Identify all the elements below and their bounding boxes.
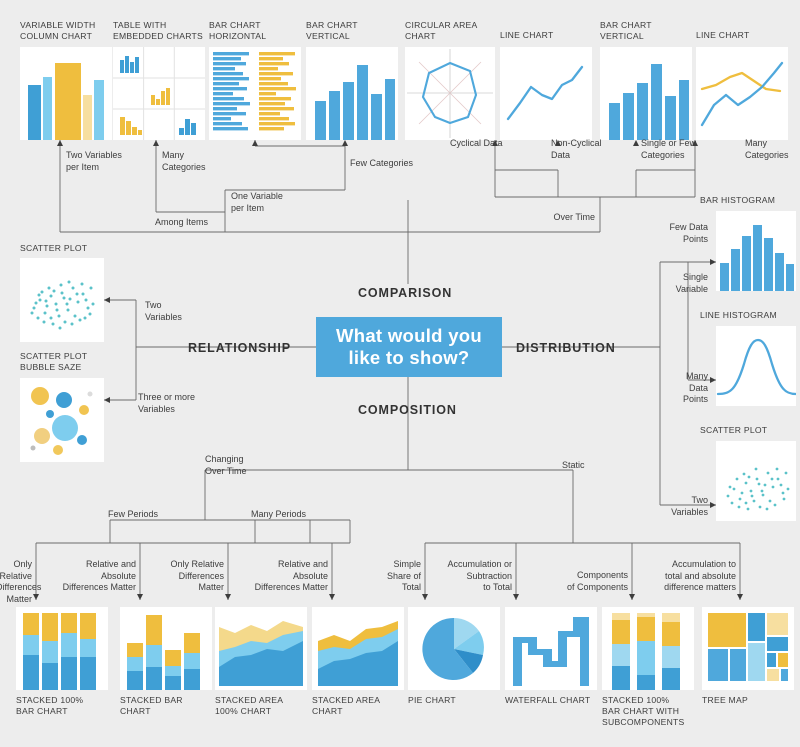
edge-simple-share: Simple Share of Total	[365, 559, 421, 594]
edge-over-time: Over Time	[520, 212, 595, 224]
edge-components-of-components: Components of Components	[551, 570, 628, 593]
thumb-circular-area	[405, 47, 495, 140]
thumb-table-embedded	[113, 47, 205, 140]
edge-only-relative-1: Only Relative Differences Matter	[0, 559, 32, 605]
center-question-box: What would you like to show?	[316, 317, 502, 377]
thumb-scatter-plot-2	[716, 441, 796, 521]
thumb-bar-histogram	[716, 211, 796, 291]
edge-two-variables-relationship: Two Variables	[145, 300, 215, 323]
branch-label-distribution: DISTRIBUTION	[516, 341, 616, 355]
caption-line-chart-1: LINE CHART	[500, 30, 553, 41]
edge-accumulation-total: Accumulation to total and absolute diffe…	[634, 559, 736, 594]
edge-accumulation-subtraction: Accumulation or Subtraction to Total	[427, 559, 512, 594]
caption-circular-area: CIRCULAR AREA CHART	[405, 20, 478, 42]
caption-bar-vertical-1: BAR CHART VERTICAL	[306, 20, 358, 42]
edge-many-categories-left: Many Categories	[162, 150, 222, 173]
thumb-bar-horizontal	[209, 47, 301, 140]
edge-one-variable-per-item: One Variable per Item	[231, 191, 311, 214]
thumb-line-chart-2	[696, 47, 788, 140]
caption-bar-vertical-2: BAR CHART VERTICAL	[600, 20, 652, 42]
edge-few-categories: Few Categories	[350, 158, 440, 170]
caption-stacked-100-sub: STACKED 100% BAR CHART WITH SUBCOMPONENT…	[602, 695, 685, 728]
thumb-variable-width-column	[20, 47, 112, 140]
branch-label-composition: COMPOSITION	[358, 403, 457, 417]
caption-stacked-bar: STACKED BAR CHART	[120, 695, 183, 717]
edge-single-variable: Single Variable	[642, 272, 708, 295]
caption-scatter-plot-1: SCATTER PLOT	[20, 243, 87, 254]
edge-two-variables-distribution: Two Variables	[648, 495, 708, 518]
caption-scatter-plot-2: SCATTER PLOT	[700, 425, 767, 436]
thumb-waterfall	[505, 607, 597, 690]
caption-line-histogram: LINE HISTOGRAM	[700, 310, 777, 321]
branch-label-comparison: COMPARISON	[358, 286, 452, 300]
edge-many-categories-right: Many Categories	[745, 138, 800, 161]
edge-among-items: Among Items	[155, 217, 235, 229]
caption-stacked-100-bar: STACKED 100% BAR CHART	[16, 695, 83, 717]
edge-relative-absolute-2: Relative and Absolute Differences Matter	[236, 559, 328, 594]
caption-table-embedded: TABLE WITH EMBEDDED CHARTS	[113, 20, 203, 42]
caption-waterfall: WATERFALL CHART	[505, 695, 590, 706]
thumb-scatter-bubble	[20, 378, 104, 462]
caption-bar-horizontal: BAR CHART HORIZONTAL	[209, 20, 266, 42]
edge-few-periods: Few Periods	[108, 509, 188, 521]
caption-bar-histogram: BAR HISTOGRAM	[700, 195, 775, 206]
thumb-stacked-area-100	[215, 607, 307, 690]
thumb-stacked-bar	[120, 607, 212, 690]
edge-three-or-more-variables: Three or more Variables	[138, 392, 218, 415]
caption-scatter-bubble: SCATTER PLOT BUBBLE SAZE	[20, 351, 87, 373]
branch-label-relationship: RELATIONSHIP	[188, 341, 291, 355]
edge-few-data-points: Few Data Points	[642, 222, 708, 245]
caption-line-chart-2: LINE CHART	[696, 30, 749, 41]
thumb-scatter-plot-1	[20, 258, 104, 342]
caption-tree-map: TREE MAP	[702, 695, 748, 706]
edge-many-periods: Many Periods	[251, 509, 331, 521]
thumb-pie-chart	[408, 607, 500, 690]
thumb-stacked-100-bar	[16, 607, 108, 690]
edge-many-data-points: Many Data Points	[648, 371, 708, 406]
center-question-text: What would you like to show?	[336, 325, 482, 369]
thumb-line-histogram	[716, 326, 796, 406]
edge-static: Static	[562, 460, 622, 472]
edge-single-or-few-categories: Single or Few Categories	[641, 138, 717, 161]
thumb-line-chart-1	[500, 47, 592, 140]
edge-non-cyclical-data: Non-Cyclical Data	[551, 138, 615, 161]
caption-variable-width-column: VARIABLE WIDTH COLUMN CHART	[20, 20, 95, 42]
caption-pie-chart: PIE CHART	[408, 695, 456, 706]
edge-relative-absolute-1: Relative and Absolute Differences Matter	[48, 559, 136, 594]
thumb-stacked-area	[312, 607, 404, 690]
thumb-stacked-100-sub	[602, 607, 694, 690]
thumb-bar-vertical-2	[600, 47, 692, 140]
edge-only-relative-2: Only Relative Differences Matter	[160, 559, 224, 594]
diagram-canvas: What would you like to show? COMPARISON …	[0, 0, 800, 747]
edge-changing-over-time: Changing Over Time	[205, 454, 285, 477]
thumb-bar-vertical-1	[306, 47, 398, 140]
caption-stacked-area: STACKED AREA CHART	[312, 695, 380, 717]
thumb-tree-map	[702, 607, 794, 690]
edge-two-variables-per-item: Two Variables per Item	[66, 150, 156, 173]
edge-cyclical-data: Cyclical Data	[450, 138, 522, 150]
caption-stacked-area-100: STACKED AREA 100% CHART	[215, 695, 283, 717]
